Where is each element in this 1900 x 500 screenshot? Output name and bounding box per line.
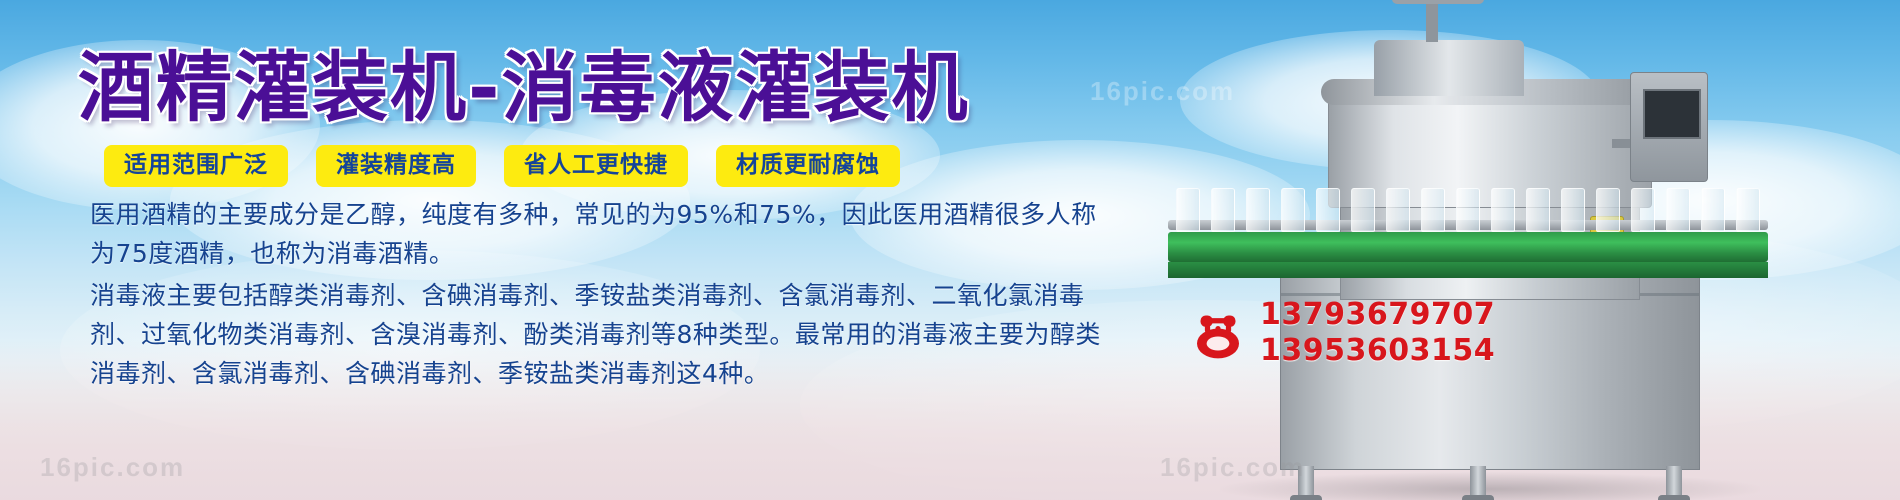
phone-number-1[interactable]: 13793679707 xyxy=(1260,298,1495,332)
feature-badge-1: 适用范围广泛 xyxy=(104,145,288,187)
machine-legs xyxy=(1280,466,1700,500)
page-title: 酒精灌装机-消毒液灌装机 xyxy=(78,46,970,130)
feature-badge-list: 适用范围广泛 灌装精度高 省人工更快捷 材质更耐腐蚀 xyxy=(104,145,900,187)
phone-number-2[interactable]: 13953603154 xyxy=(1260,334,1495,368)
description-block: 医用酒精的主要成分是乙醇，纯度有多种，常见的为95%和75%，因此医用酒精很多人… xyxy=(90,195,1110,393)
description-paragraph-2: 消毒液主要包括醇类消毒剂、含碘消毒剂、季铵盐类消毒剂、含氯消毒剂、二氧化氯消毒剂… xyxy=(90,276,1110,393)
machine-control-panel xyxy=(1630,72,1708,182)
machine-top-hopper xyxy=(1374,40,1524,96)
description-paragraph-1: 医用酒精的主要成分是乙醇，纯度有多种，常见的为95%和75%，因此医用酒精很多人… xyxy=(90,195,1110,273)
phone-number-list: 13793679707 13953603154 xyxy=(1260,298,1495,368)
promo-banner: 酒精灌装机-消毒液灌装机 适用范围广泛 灌装精度高 省人工更快捷 材质更耐腐蚀 … xyxy=(0,0,1900,500)
contact-block[interactable]: 13793679707 13953603154 xyxy=(1190,298,1495,368)
feature-badge-2: 灌装精度高 xyxy=(316,145,476,187)
feature-badge-4: 材质更耐腐蚀 xyxy=(716,145,900,187)
machine-conveyor-frame xyxy=(1168,262,1768,278)
product-photo-filling-machine xyxy=(1160,20,1780,500)
telephone-icon xyxy=(1190,305,1246,361)
watermark-bottom-left: 16pic.com xyxy=(40,452,185,483)
feature-badge-3: 省人工更快捷 xyxy=(504,145,688,187)
bottle-row xyxy=(1170,186,1770,232)
machine-conveyor-belt xyxy=(1168,232,1768,262)
